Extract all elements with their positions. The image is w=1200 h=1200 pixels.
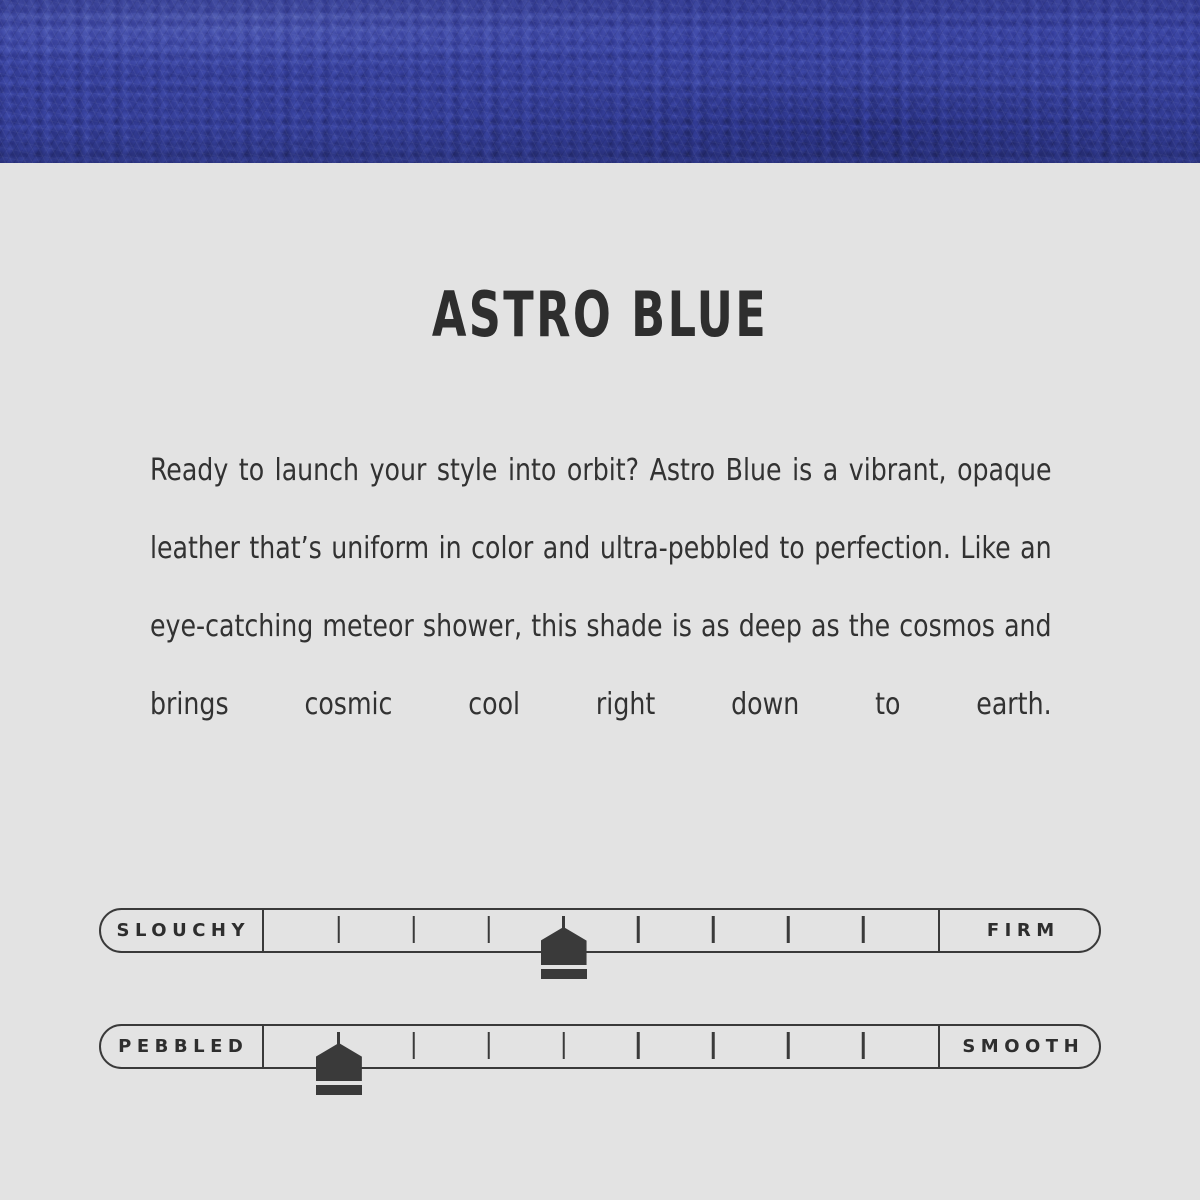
scale-marker-needle (337, 1032, 340, 1060)
scale-structure[interactable]: SLOUCHY FIRM (99, 908, 1101, 953)
scale-marker-pointer-icon (541, 927, 587, 965)
scale-tick (787, 916, 790, 943)
scale-texture-label-right: SMOOTH (938, 1024, 1101, 1069)
scale-texture-track[interactable] (264, 1024, 938, 1069)
scale-tick (413, 916, 416, 943)
scale-texture-label-left: PEBBLED (99, 1024, 264, 1069)
scale-tick (413, 1032, 416, 1059)
description-paragraph: Ready to launch your style into orbit? A… (150, 432, 1052, 822)
scale-tick (487, 1032, 490, 1059)
scale-tick (862, 1032, 865, 1059)
scale-marker-pointer-icon (316, 1043, 362, 1081)
scale-marker-bar (541, 969, 587, 979)
scale-tick (562, 916, 565, 943)
scale-tick (862, 916, 865, 943)
scale-marker-needle (562, 916, 565, 944)
scale-tick (637, 916, 640, 943)
scale-tick (787, 1032, 790, 1059)
scale-tick (712, 916, 715, 943)
scale-texture[interactable]: PEBBLED SMOOTH (99, 1024, 1101, 1069)
scale-tick (712, 1032, 715, 1059)
leather-swatch-image (0, 0, 1200, 163)
swatch-vignette (0, 0, 1200, 163)
page-title: ASTRO BLUE (120, 278, 1080, 351)
scale-marker-bar (316, 1085, 362, 1095)
scale-tick (637, 1032, 640, 1059)
scale-structure-label-left: SLOUCHY (99, 908, 264, 953)
scale-texture-frame (99, 1024, 1101, 1069)
scale-tick (338, 1032, 341, 1059)
scale-tick (338, 916, 341, 943)
product-swatch-card: ASTRO BLUE Ready to launch your style in… (0, 0, 1200, 1200)
scale-structure-track[interactable] (264, 908, 938, 953)
scale-tick (487, 916, 490, 943)
scale-tick (562, 1032, 565, 1059)
scale-structure-frame (99, 908, 1101, 953)
scale-structure-label-right: FIRM (938, 908, 1101, 953)
